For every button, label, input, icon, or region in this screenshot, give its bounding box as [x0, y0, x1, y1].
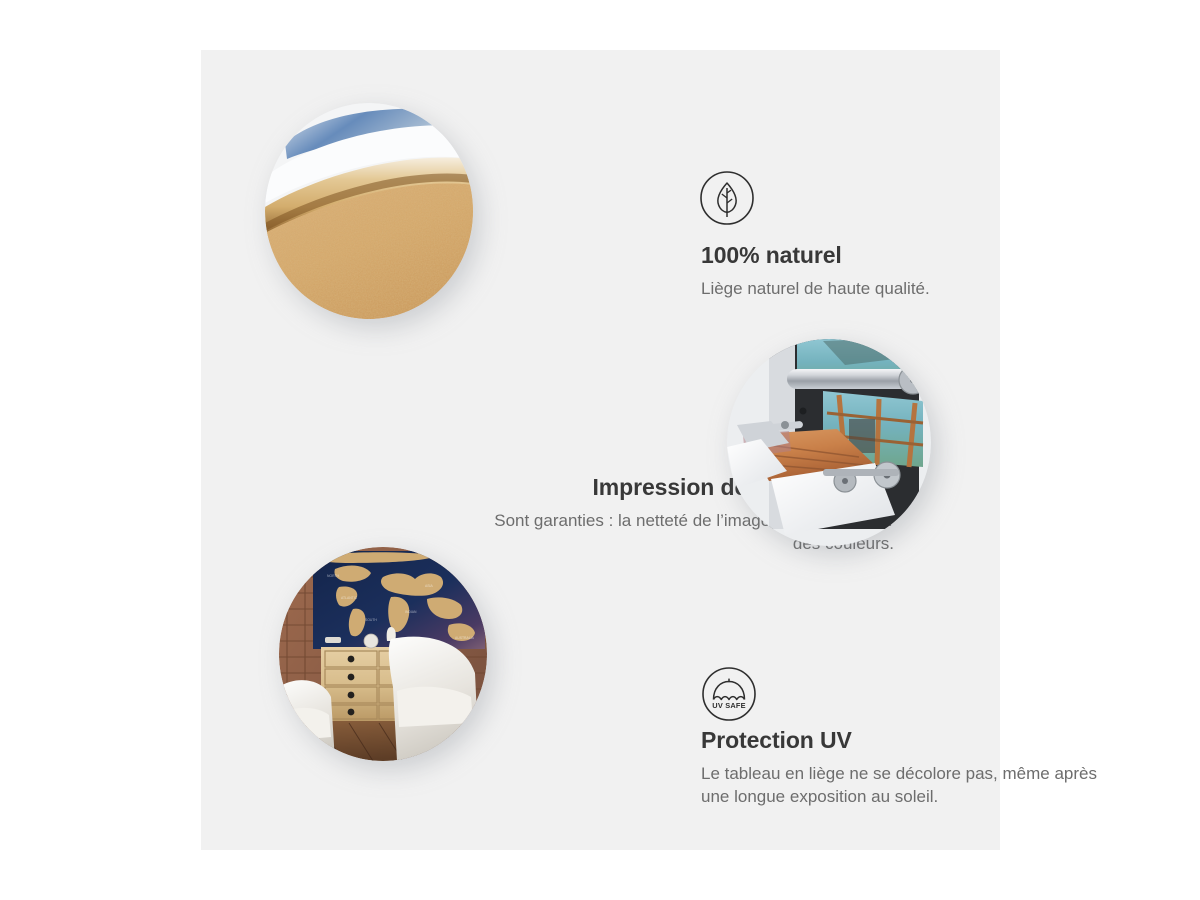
- feature-natural-description: Liège naturel de haute qualité.: [701, 278, 1101, 301]
- printing-machine-photo: [727, 339, 931, 546]
- svg-text:ASIA: ASIA: [425, 584, 433, 588]
- svg-text:ATLANTIC: ATLANTIC: [341, 596, 358, 600]
- svg-text:UV SAFE: UV SAFE: [712, 701, 745, 710]
- svg-text:INDIAN: INDIAN: [405, 610, 417, 614]
- feature-uv-protection-description: Le tableau en liège ne se décolore pas, …: [701, 763, 1121, 809]
- svg-text:NORTH: NORTH: [327, 574, 340, 578]
- feature-natural-text: 100% naturel Liège naturel de haute qual…: [701, 243, 1101, 301]
- svg-text:SOUTH: SOUTH: [365, 618, 377, 622]
- leaf-icon: [699, 170, 755, 226]
- feature-uv-protection-text: Protection UV Le tableau en liège ne se …: [701, 728, 1121, 809]
- feature-natural-title: 100% naturel: [701, 243, 1101, 269]
- feature-uv-protection-title: Protection UV: [701, 728, 1121, 754]
- room-interior-world-map-photo: NORTH ATLANTIC SOUTH ASIA INDIAN AUSTRAL…: [279, 547, 487, 761]
- uv-safe-umbrella-icon: UV SAFE: [701, 666, 757, 722]
- cork-texture-photo: [265, 103, 473, 319]
- svg-text:AUSTRALIA: AUSTRALIA: [455, 636, 475, 640]
